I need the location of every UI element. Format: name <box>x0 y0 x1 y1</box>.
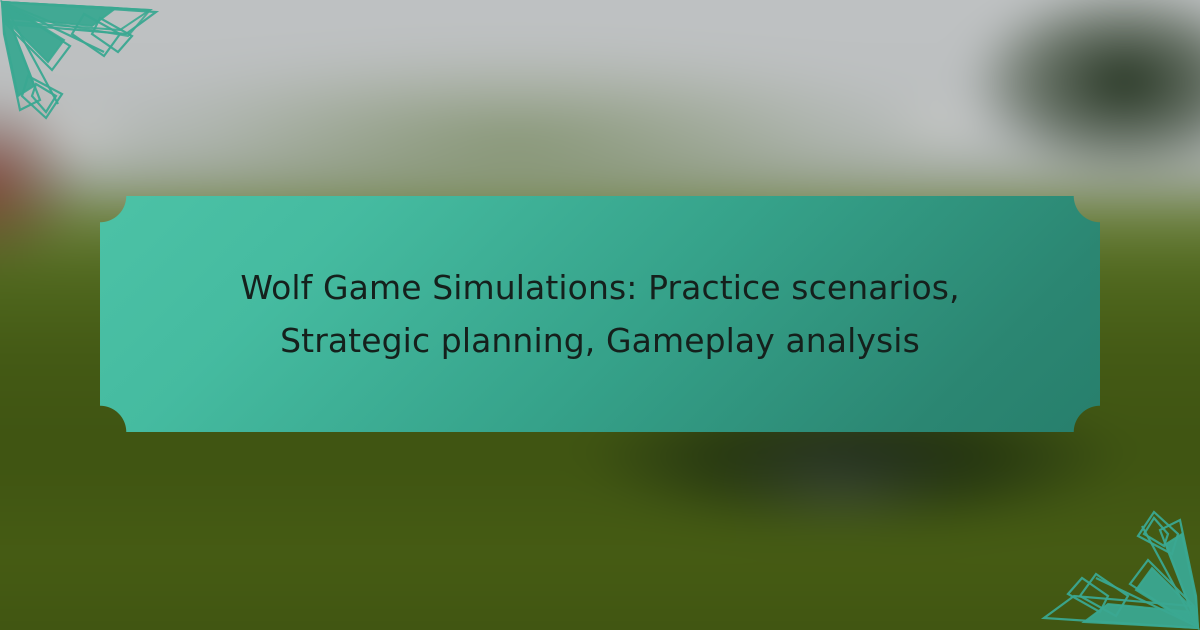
title-card: Wolf Game Simulations: Practice scenario… <box>100 196 1100 432</box>
page-title: Wolf Game Simulations: Practice scenario… <box>220 261 980 368</box>
banner-canvas: Wolf Game Simulations: Practice scenario… <box>0 0 1200 630</box>
